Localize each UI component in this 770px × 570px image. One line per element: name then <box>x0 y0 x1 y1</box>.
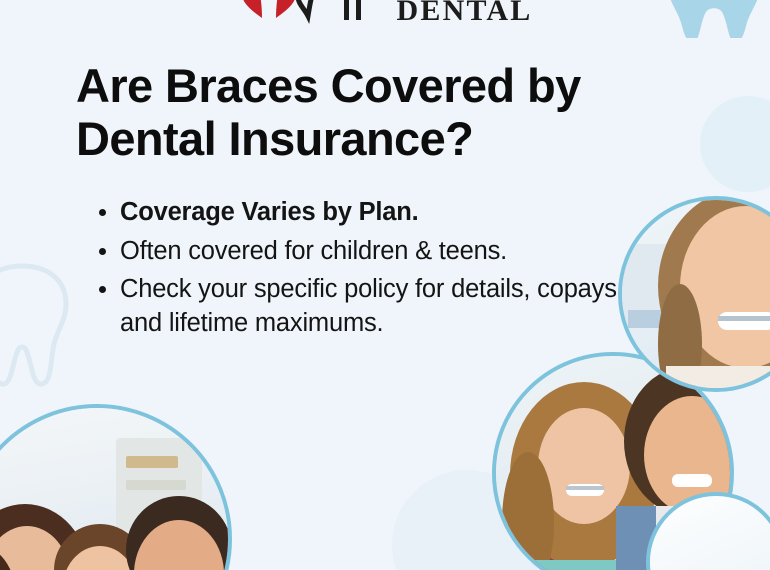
list-item: Often covered for children & teens. <box>97 235 657 269</box>
list-item: Coverage Varies by Plan. <box>97 196 657 230</box>
poster-canvas: DENTAL Are Braces Covered by Dental Insu… <box>0 0 770 570</box>
logo-wordmark: DENTAL <box>397 0 533 28</box>
heart-tooth-logo-mark <box>238 0 388 28</box>
headline-line-1: Are Braces Covered by <box>76 60 716 113</box>
page-title: Are Braces Covered by Dental Insurance? <box>76 60 716 165</box>
list-item: Check your specific policy for details, … <box>97 273 657 340</box>
key-points-list: Coverage Varies by Plan. Often covered f… <box>97 196 657 346</box>
tooth-outline-icon <box>0 258 76 390</box>
photo-teen-girl-braces: Smiling teenage girl wearing metal brace… <box>618 196 770 392</box>
brand-logo: DENTAL <box>0 0 770 28</box>
headline-line-2: Dental Insurance? <box>76 113 716 166</box>
photo-dental-tools: Dental mirror and probe on a tray <box>646 492 770 570</box>
photo-family: Mother, son and father smiling together <box>0 404 232 570</box>
